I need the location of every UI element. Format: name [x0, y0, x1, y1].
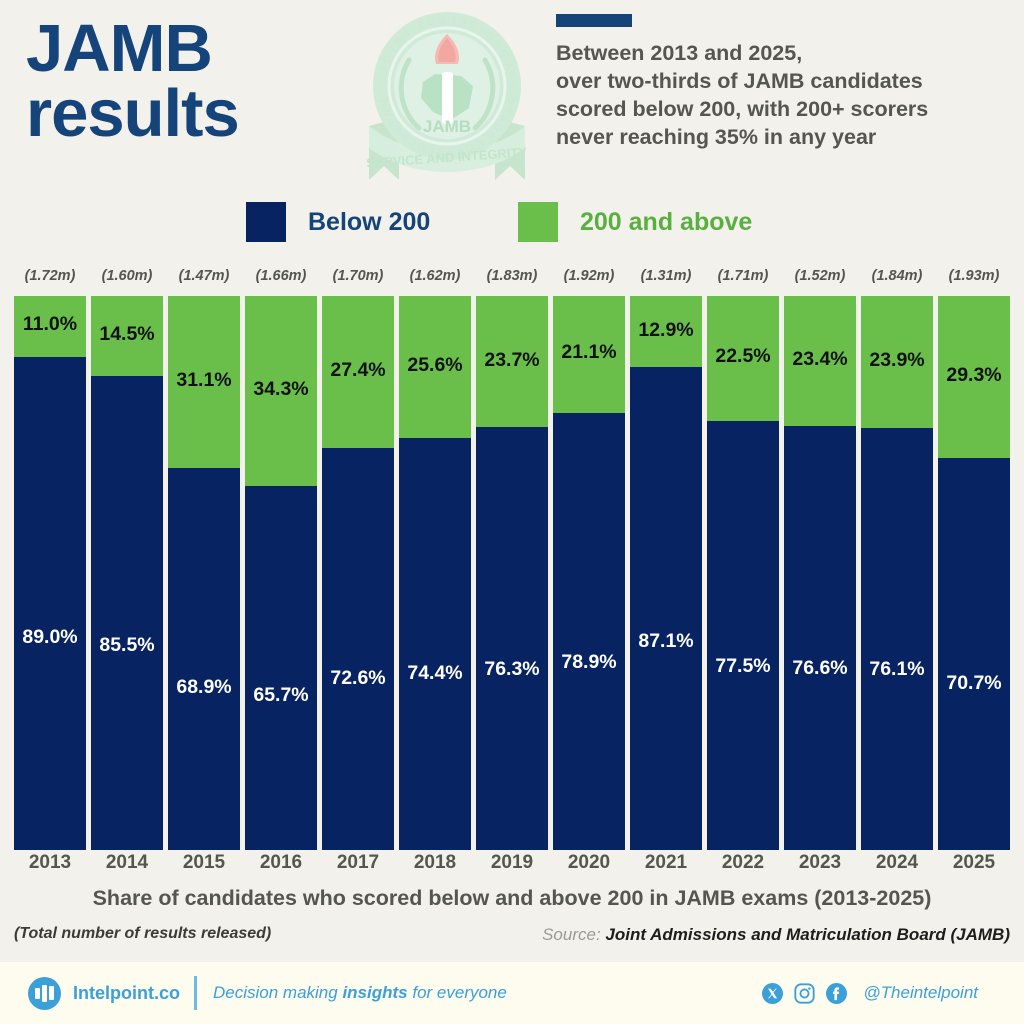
bar-total-label: (1.66m)	[256, 268, 307, 284]
chart-source: Source: Joint Admissions and Matriculati…	[542, 925, 1010, 945]
legend-label-below-200: Below 200	[308, 208, 430, 237]
tagline-pre: Decision making	[213, 983, 342, 1002]
bar-column: (1.47m)31.1%68.9%	[168, 268, 240, 850]
svg-text:JAMB: JAMB	[423, 117, 471, 136]
bar-column: (1.92m)21.1%78.9%	[553, 268, 625, 850]
bar-segment-above-200[interactable]: 31.1%	[168, 296, 240, 468]
bar-total-label: (1.60m)	[102, 268, 153, 284]
headline-line-1: Between 2013 and 2025,	[556, 39, 1016, 67]
x-axis-tick-2019: 2019	[476, 852, 548, 874]
bar-segment-below-200[interactable]: 76.6%	[784, 426, 856, 850]
bar-value-above-200: 29.3%	[946, 364, 1001, 387]
bar-value-below-200: 76.6%	[792, 657, 847, 680]
bar-value-above-200: 11.0%	[23, 313, 77, 336]
x-axis-tick-2016: 2016	[245, 852, 317, 874]
bar-total-label: (1.47m)	[179, 268, 230, 284]
bar-segment-above-200[interactable]: 23.7%	[476, 296, 548, 427]
bar-segment-above-200[interactable]: 12.9%	[630, 296, 702, 367]
facebook-icon[interactable]	[826, 983, 847, 1004]
bar-value-below-200: 89.0%	[22, 626, 77, 649]
x-axis-tick-2017: 2017	[322, 852, 394, 874]
bar-segment-below-200[interactable]: 87.1%	[630, 367, 702, 850]
bar-total-label: (1.62m)	[410, 268, 461, 284]
bar-value-above-200: 21.1%	[561, 341, 616, 364]
bar-stack: 25.6%74.4%	[399, 296, 471, 850]
legend-item-200-and-above[interactable]: 200 and above	[518, 202, 752, 242]
svg-text:M: M	[438, 15, 448, 28]
bar-value-below-200: 77.5%	[715, 655, 770, 678]
bar-column: (1.93m)29.3%70.7%	[938, 268, 1010, 850]
bar-stack: 29.3%70.7%	[938, 296, 1010, 850]
bar-value-above-200: 23.7%	[484, 349, 539, 372]
bar-value-below-200: 76.1%	[869, 658, 924, 681]
headline-line-4: never reaching 35% in any year	[556, 123, 1016, 151]
bar-segment-above-200[interactable]: 14.5%	[91, 296, 163, 376]
legend-item-below-200[interactable]: Below 200	[246, 202, 430, 242]
footnote-row: (Total number of results released) Sourc…	[0, 925, 1024, 955]
bar-total-label: (1.52m)	[795, 268, 846, 284]
bar-column: (1.31m)12.9%87.1%	[630, 268, 702, 850]
headline-line-3: scored below 200, with 200+ scorers	[556, 95, 1016, 123]
tagline-bold: insights	[342, 983, 407, 1002]
bar-segment-above-200[interactable]: 11.0%	[14, 296, 86, 357]
bar-segment-below-200[interactable]: 70.7%	[938, 458, 1010, 850]
bar-column: (1.72m)11.0%89.0%	[14, 268, 86, 850]
bar-value-below-200: 72.6%	[330, 667, 385, 690]
bar-total-label: (1.31m)	[641, 268, 692, 284]
bar-segment-above-200[interactable]: 25.6%	[399, 296, 471, 438]
bar-value-below-200: 85.5%	[99, 634, 154, 657]
bar-value-above-200: 23.9%	[869, 349, 924, 372]
legend-label-200-and-above: 200 and above	[580, 208, 752, 237]
bar-total-label: (1.71m)	[718, 268, 769, 284]
bar-value-below-200: 76.3%	[484, 658, 539, 681]
x-axis-tick-2014: 2014	[91, 852, 163, 874]
bar-column: (1.52m)23.4%76.6%	[784, 268, 856, 850]
bar-stack: 22.5%77.5%	[707, 296, 779, 850]
bar-column: (1.62m)25.6%74.4%	[399, 268, 471, 850]
headline-line-2: over two-thirds of JAMB candidates	[556, 67, 1016, 95]
footer-bar: Intelpoint.co Decision making insights f…	[0, 962, 1024, 1024]
bar-value-above-200: 31.1%	[176, 369, 231, 392]
bar-value-above-200: 14.5%	[99, 323, 154, 346]
jamb-seal-icon: JAMB J O I N T A D M I S S I O N S A N D…	[357, 8, 537, 184]
bar-total-label: (1.72m)	[25, 268, 76, 284]
bar-stack: 34.3%65.7%	[245, 296, 317, 850]
bar-stack: 31.1%68.9%	[168, 296, 240, 850]
chart-legend: Below 200 200 and above	[0, 200, 1024, 252]
x-axis-tick-2013: 2013	[14, 852, 86, 874]
bar-total-label: (1.93m)	[949, 268, 1000, 284]
legend-swatch-below-200	[246, 202, 286, 242]
bar-column: (1.70m)27.4%72.6%	[322, 268, 394, 850]
x-axis-tick-2023: 2023	[784, 852, 856, 874]
bar-segment-below-200[interactable]: 74.4%	[399, 438, 471, 850]
bar-value-above-200: 27.4%	[330, 359, 385, 382]
bar-total-label: (1.92m)	[564, 268, 615, 284]
bar-column: (1.66m)34.3%65.7%	[245, 268, 317, 850]
source-value: Joint Admissions and Matriculation Board…	[605, 925, 1010, 944]
bar-value-below-200: 87.1%	[638, 630, 693, 653]
bar-segment-above-200[interactable]: 21.1%	[553, 296, 625, 413]
bar-total-label: (1.83m)	[487, 268, 538, 284]
x-axis-tick-2018: 2018	[399, 852, 471, 874]
bar-value-above-200: 25.6%	[407, 354, 462, 377]
bar-segment-above-200[interactable]: 23.9%	[861, 296, 933, 428]
bar-stack: 14.5%85.5%	[91, 296, 163, 850]
headline-block: Between 2013 and 2025, over two-thirds o…	[556, 14, 1016, 152]
bar-total-label: (1.70m)	[333, 268, 384, 284]
bar-segment-below-200[interactable]: 72.6%	[322, 448, 394, 850]
social-links: @Theintelpoint	[762, 983, 978, 1004]
bar-segment-below-200[interactable]: 65.7%	[245, 486, 317, 850]
bar-total-label: (1.84m)	[872, 268, 923, 284]
social-handle: @Theintelpoint	[863, 983, 978, 1003]
x-axis-tick-2021: 2021	[630, 852, 702, 874]
intelpoint-logo-icon	[28, 977, 61, 1010]
brand-name: Intelpoint.co	[73, 983, 180, 1004]
chart-subtitle: Share of candidates who scored below and…	[0, 886, 1024, 911]
bar-stack: 21.1%78.9%	[553, 296, 625, 850]
bar-value-below-200: 70.7%	[946, 672, 1001, 695]
bar-segment-below-200[interactable]: 77.5%	[707, 421, 779, 850]
svg-text:D: D	[506, 82, 518, 90]
page-title-line-1: JAMB	[26, 16, 239, 81]
instagram-icon[interactable]	[794, 983, 815, 1004]
footer-divider	[194, 976, 197, 1010]
bar-segment-below-200[interactable]: 76.1%	[861, 428, 933, 850]
stacked-bar-chart: (1.72m)11.0%89.0%(1.60m)14.5%85.5%(1.47m…	[14, 268, 1010, 850]
bar-stack: 23.4%76.6%	[784, 296, 856, 850]
x-twitter-icon[interactable]	[762, 983, 783, 1004]
x-axis-tick-2024: 2024	[861, 852, 933, 874]
bar-segment-below-200[interactable]: 89.0%	[14, 357, 86, 850]
bar-segment-below-200[interactable]: 78.9%	[553, 413, 625, 850]
source-label: Source:	[542, 925, 601, 944]
x-axis-tick-2020: 2020	[553, 852, 625, 874]
bar-value-below-200: 78.9%	[561, 651, 616, 674]
bar-column: (1.84m)23.9%76.1%	[861, 268, 933, 850]
bar-stack: 23.7%76.3%	[476, 296, 548, 850]
legend-swatch-200-and-above	[518, 202, 558, 242]
bar-segment-below-200[interactable]: 68.9%	[168, 468, 240, 850]
bar-stack: 27.4%72.6%	[322, 296, 394, 850]
bar-segment-above-200[interactable]: 34.3%	[245, 296, 317, 486]
bar-stack: 23.9%76.1%	[861, 296, 933, 850]
brand-block[interactable]: Intelpoint.co	[28, 977, 180, 1010]
bar-stack: 11.0%89.0%	[14, 296, 86, 850]
bar-stack: 12.9%87.1%	[630, 296, 702, 850]
chart-footnote: (Total number of results released)	[14, 925, 271, 943]
bar-segment-above-200[interactable]: 27.4%	[322, 296, 394, 448]
tagline-post: for everyone	[408, 983, 507, 1002]
bar-value-below-200: 65.7%	[253, 684, 308, 707]
bar-column: (1.83m)23.7%76.3%	[476, 268, 548, 850]
bar-column: (1.71m)22.5%77.5%	[707, 268, 779, 850]
bar-value-above-200: 22.5%	[715, 345, 770, 368]
bar-value-above-200: 23.4%	[792, 348, 847, 371]
headline-text: Between 2013 and 2025, over two-thirds o…	[556, 39, 1016, 152]
bar-segment-below-200[interactable]: 85.5%	[91, 376, 163, 850]
bar-value-above-200: 12.9%	[638, 319, 693, 342]
bar-column: (1.60m)14.5%85.5%	[91, 268, 163, 850]
page-title-line-2: results	[26, 81, 239, 146]
page-title: JAMB results	[26, 16, 239, 146]
bar-value-below-200: 68.9%	[176, 676, 231, 699]
bar-segment-above-200[interactable]: 22.5%	[707, 296, 779, 421]
bar-segment-above-200[interactable]: 23.4%	[784, 296, 856, 426]
footer-tagline: Decision making insights for everyone	[213, 983, 507, 1003]
bar-value-below-200: 74.4%	[407, 662, 462, 685]
header: JAMB results JAMB J O I N T A D M I	[0, 0, 1024, 195]
bar-segment-above-200[interactable]: 29.3%	[938, 296, 1010, 458]
headline-accent-bar	[556, 14, 632, 27]
x-axis-year-labels: 2013201420152016201720182019202020212022…	[14, 852, 1010, 880]
x-axis-tick-2015: 2015	[168, 852, 240, 874]
bar-segment-below-200[interactable]: 76.3%	[476, 427, 548, 850]
x-axis-tick-2025: 2025	[938, 852, 1010, 874]
x-axis-tick-2022: 2022	[707, 852, 779, 874]
bar-value-above-200: 34.3%	[253, 378, 308, 401]
